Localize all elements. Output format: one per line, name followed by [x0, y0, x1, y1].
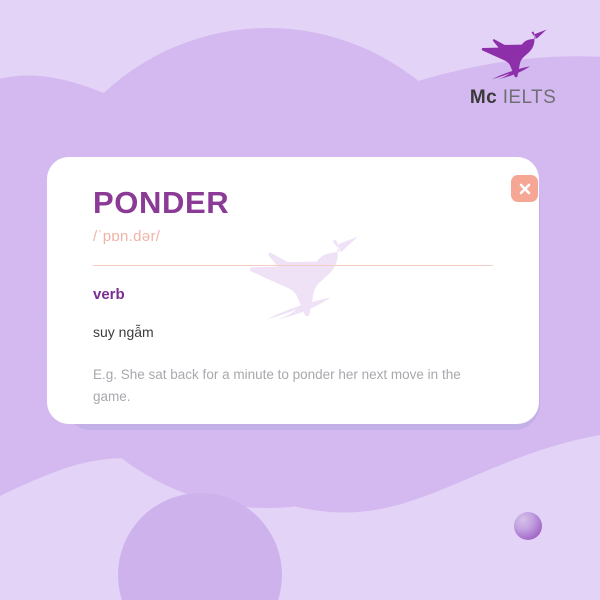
card-divider: [93, 265, 493, 266]
part-of-speech-label: verb: [93, 286, 493, 304]
word-definition-card: PONDER /ˈpɒn.dər/ verb suy ngẫm E.g. She…: [47, 157, 539, 424]
brand-name-bold: Mc: [470, 87, 497, 108]
close-icon: [518, 182, 532, 196]
brand-name-light: IELTS: [503, 87, 556, 108]
flashcard-screen: Mc IELTS PONDER /ˈpɒn.dər/ verb suy ngẫm…: [0, 0, 600, 600]
word-phonetic: /ˈpɒn.dər/: [93, 228, 493, 246]
word-meaning: suy ngẫm: [93, 323, 493, 341]
gradient-sphere-icon: [514, 512, 542, 540]
brand-logo: Mc IELTS: [458, 26, 568, 107]
example-sentence: E.g. She sat back for a minute to ponder…: [93, 364, 493, 408]
hummingbird-icon: [474, 26, 552, 84]
brand-logo-text: Mc IELTS: [458, 88, 568, 107]
word-title: PONDER: [93, 187, 493, 220]
close-button[interactable]: [511, 175, 538, 202]
